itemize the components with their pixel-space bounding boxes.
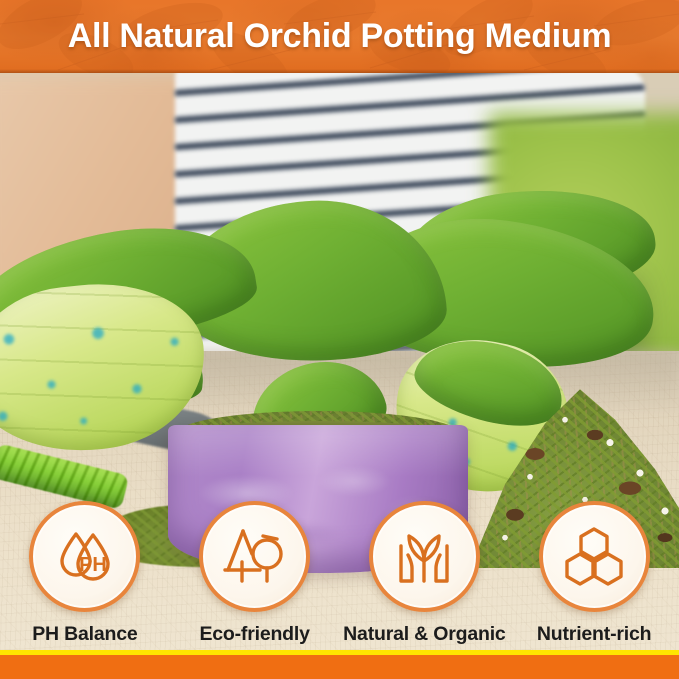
feature-badge (369, 501, 480, 612)
feature-item-ph-balance: PH PH Balance (0, 501, 170, 646)
feature-badge (199, 501, 310, 612)
feature-badge (539, 501, 650, 612)
feature-label: Nutrient-rich (537, 623, 651, 646)
bottom-stripe-orange (0, 655, 679, 679)
product-marketing-card: All Natural Orchid Potting Medium (0, 0, 679, 679)
feature-badge: PH (29, 501, 140, 612)
ph-droplet-icon: PH (49, 521, 121, 593)
honeycomb-icon (558, 521, 630, 593)
feature-list: PH PH Balance Ec (0, 501, 679, 651)
feature-item-eco-friendly: Eco-friendly (170, 501, 340, 646)
hands-sprout-icon (388, 521, 460, 593)
header-banner: All Natural Orchid Potting Medium (0, 0, 679, 73)
feature-item-nutrient-rich: Nutrient-rich (509, 501, 679, 646)
trees-icon (219, 521, 291, 593)
feature-label: Natural & Organic (343, 623, 505, 646)
feature-item-natural-organic: Natural & Organic (340, 501, 510, 646)
feature-label: PH Balance (32, 623, 137, 646)
page-title: All Natural Orchid Potting Medium (0, 0, 679, 73)
feature-label: Eco-friendly (199, 623, 309, 646)
ph-icon-text: PH (79, 554, 107, 576)
